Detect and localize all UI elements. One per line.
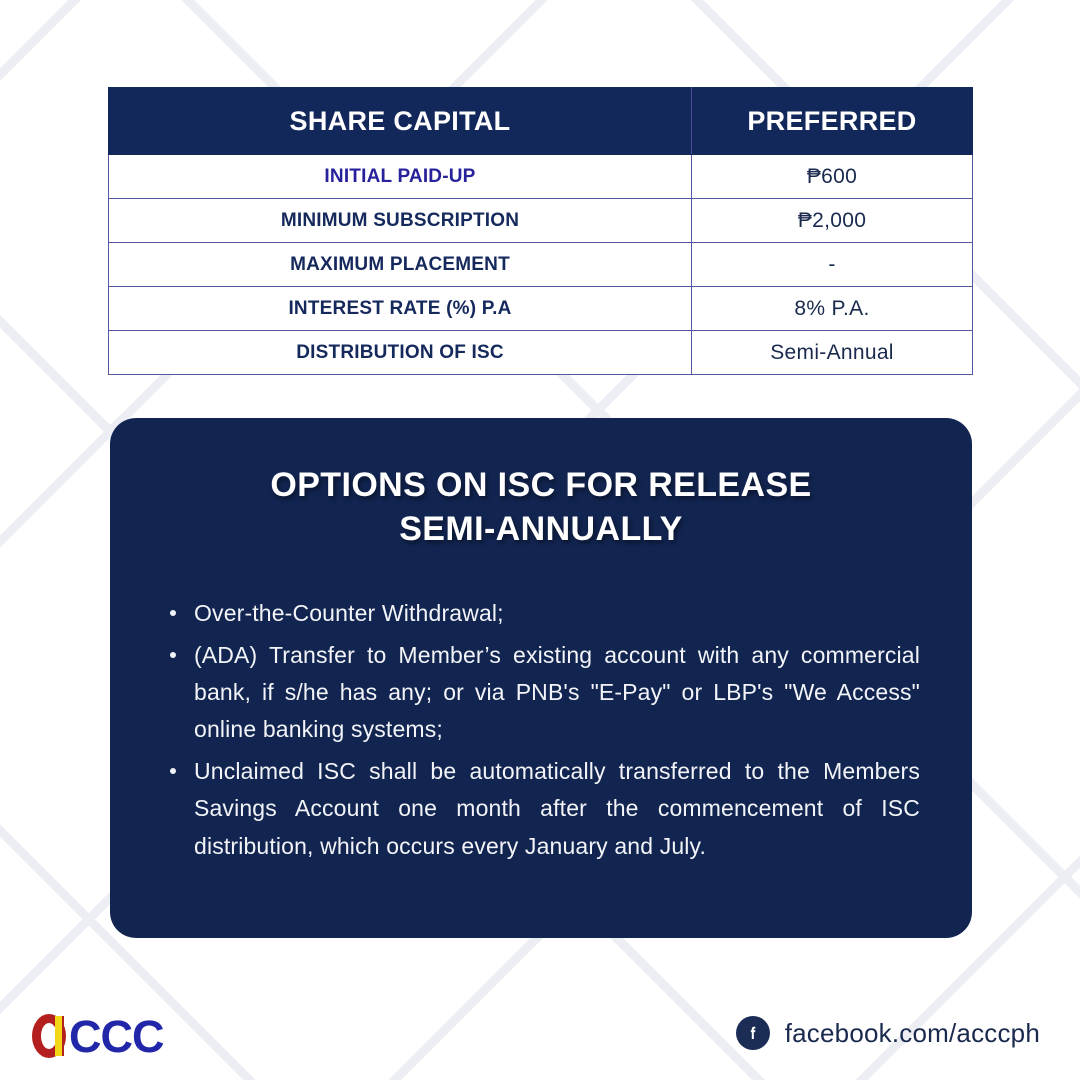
table-body: INITIAL PAID-UP ₱600 MINIMUM SUBSCRIPTIO… <box>109 155 973 375</box>
card-title-line-2: SEMI-ANNUALLY <box>162 508 920 552</box>
list-item: Unclaimed ISC shall be automatically tra… <box>162 753 920 865</box>
share-capital-table-container: SHARE CAPITAL PREFERRED INITIAL PAID-UP … <box>108 87 972 375</box>
accc-logo: CCC <box>32 1010 164 1062</box>
row-value-maximum-placement: - <box>692 243 973 287</box>
table-row: DISTRIBUTION OF ISC Semi-Annual <box>109 331 973 375</box>
row-value-interest-rate: 8% P.A. <box>692 287 973 331</box>
list-item: (ADA) Transfer to Member’s existing acco… <box>162 637 920 749</box>
row-value-distribution-of-isc: Semi-Annual <box>692 331 973 375</box>
bullet-dot-icon <box>170 610 176 616</box>
infographic-page: SHARE CAPITAL PREFERRED INITIAL PAID-UP … <box>0 0 1080 1080</box>
logo-wordmark: CCC <box>69 1014 164 1059</box>
table-row: INTEREST RATE (%) P.A 8% P.A. <box>109 287 973 331</box>
options-info-card: OPTIONS ON ISC FOR RELEASE SEMI-ANNUALLY… <box>110 418 972 938</box>
table-row: MINIMUM SUBSCRIPTION ₱2,000 <box>109 199 973 243</box>
bullet-dot-icon <box>170 768 176 774</box>
list-item-text: Over-the-Counter Withdrawal; <box>194 600 504 626</box>
bullet-dot-icon <box>170 652 176 658</box>
options-bullet-list: Over-the-Counter Withdrawal; (ADA) Trans… <box>162 595 920 865</box>
list-item: Over-the-Counter Withdrawal; <box>162 595 920 632</box>
facebook-handle[interactable]: facebook.com/acccph <box>736 1016 1040 1050</box>
monogram-bar-shape <box>55 1016 64 1056</box>
card-title: OPTIONS ON ISC FOR RELEASE SEMI-ANNUALLY <box>162 464 920 551</box>
accc-monogram-icon <box>32 1014 66 1058</box>
row-label-initial-paid-up: INITIAL PAID-UP <box>109 155 692 199</box>
table-header-row: SHARE CAPITAL PREFERRED <box>109 88 973 155</box>
table-row: INITIAL PAID-UP ₱600 <box>109 155 973 199</box>
row-value-initial-paid-up: ₱600 <box>692 155 973 199</box>
list-item-text: (ADA) Transfer to Member’s existing acco… <box>194 642 920 743</box>
row-label-minimum-subscription: MINIMUM SUBSCRIPTION <box>109 199 692 243</box>
table-row: MAXIMUM PLACEMENT - <box>109 243 973 287</box>
card-title-line-1: OPTIONS ON ISC FOR RELEASE <box>162 464 920 508</box>
column-header-share-capital: SHARE CAPITAL <box>109 88 692 155</box>
list-item-text: Unclaimed ISC shall be automatically tra… <box>194 758 920 859</box>
row-label-interest-rate: INTEREST RATE (%) P.A <box>109 287 692 331</box>
row-value-minimum-subscription: ₱2,000 <box>692 199 973 243</box>
row-label-maximum-placement: MAXIMUM PLACEMENT <box>109 243 692 287</box>
facebook-icon[interactable] <box>736 1016 770 1050</box>
column-header-preferred: PREFERRED <box>692 88 973 155</box>
facebook-url-text[interactable]: facebook.com/acccph <box>785 1018 1040 1049</box>
table-header: SHARE CAPITAL PREFERRED <box>109 88 973 155</box>
row-label-distribution-of-isc: DISTRIBUTION OF ISC <box>109 331 692 375</box>
share-capital-table: SHARE CAPITAL PREFERRED INITIAL PAID-UP … <box>108 87 973 375</box>
